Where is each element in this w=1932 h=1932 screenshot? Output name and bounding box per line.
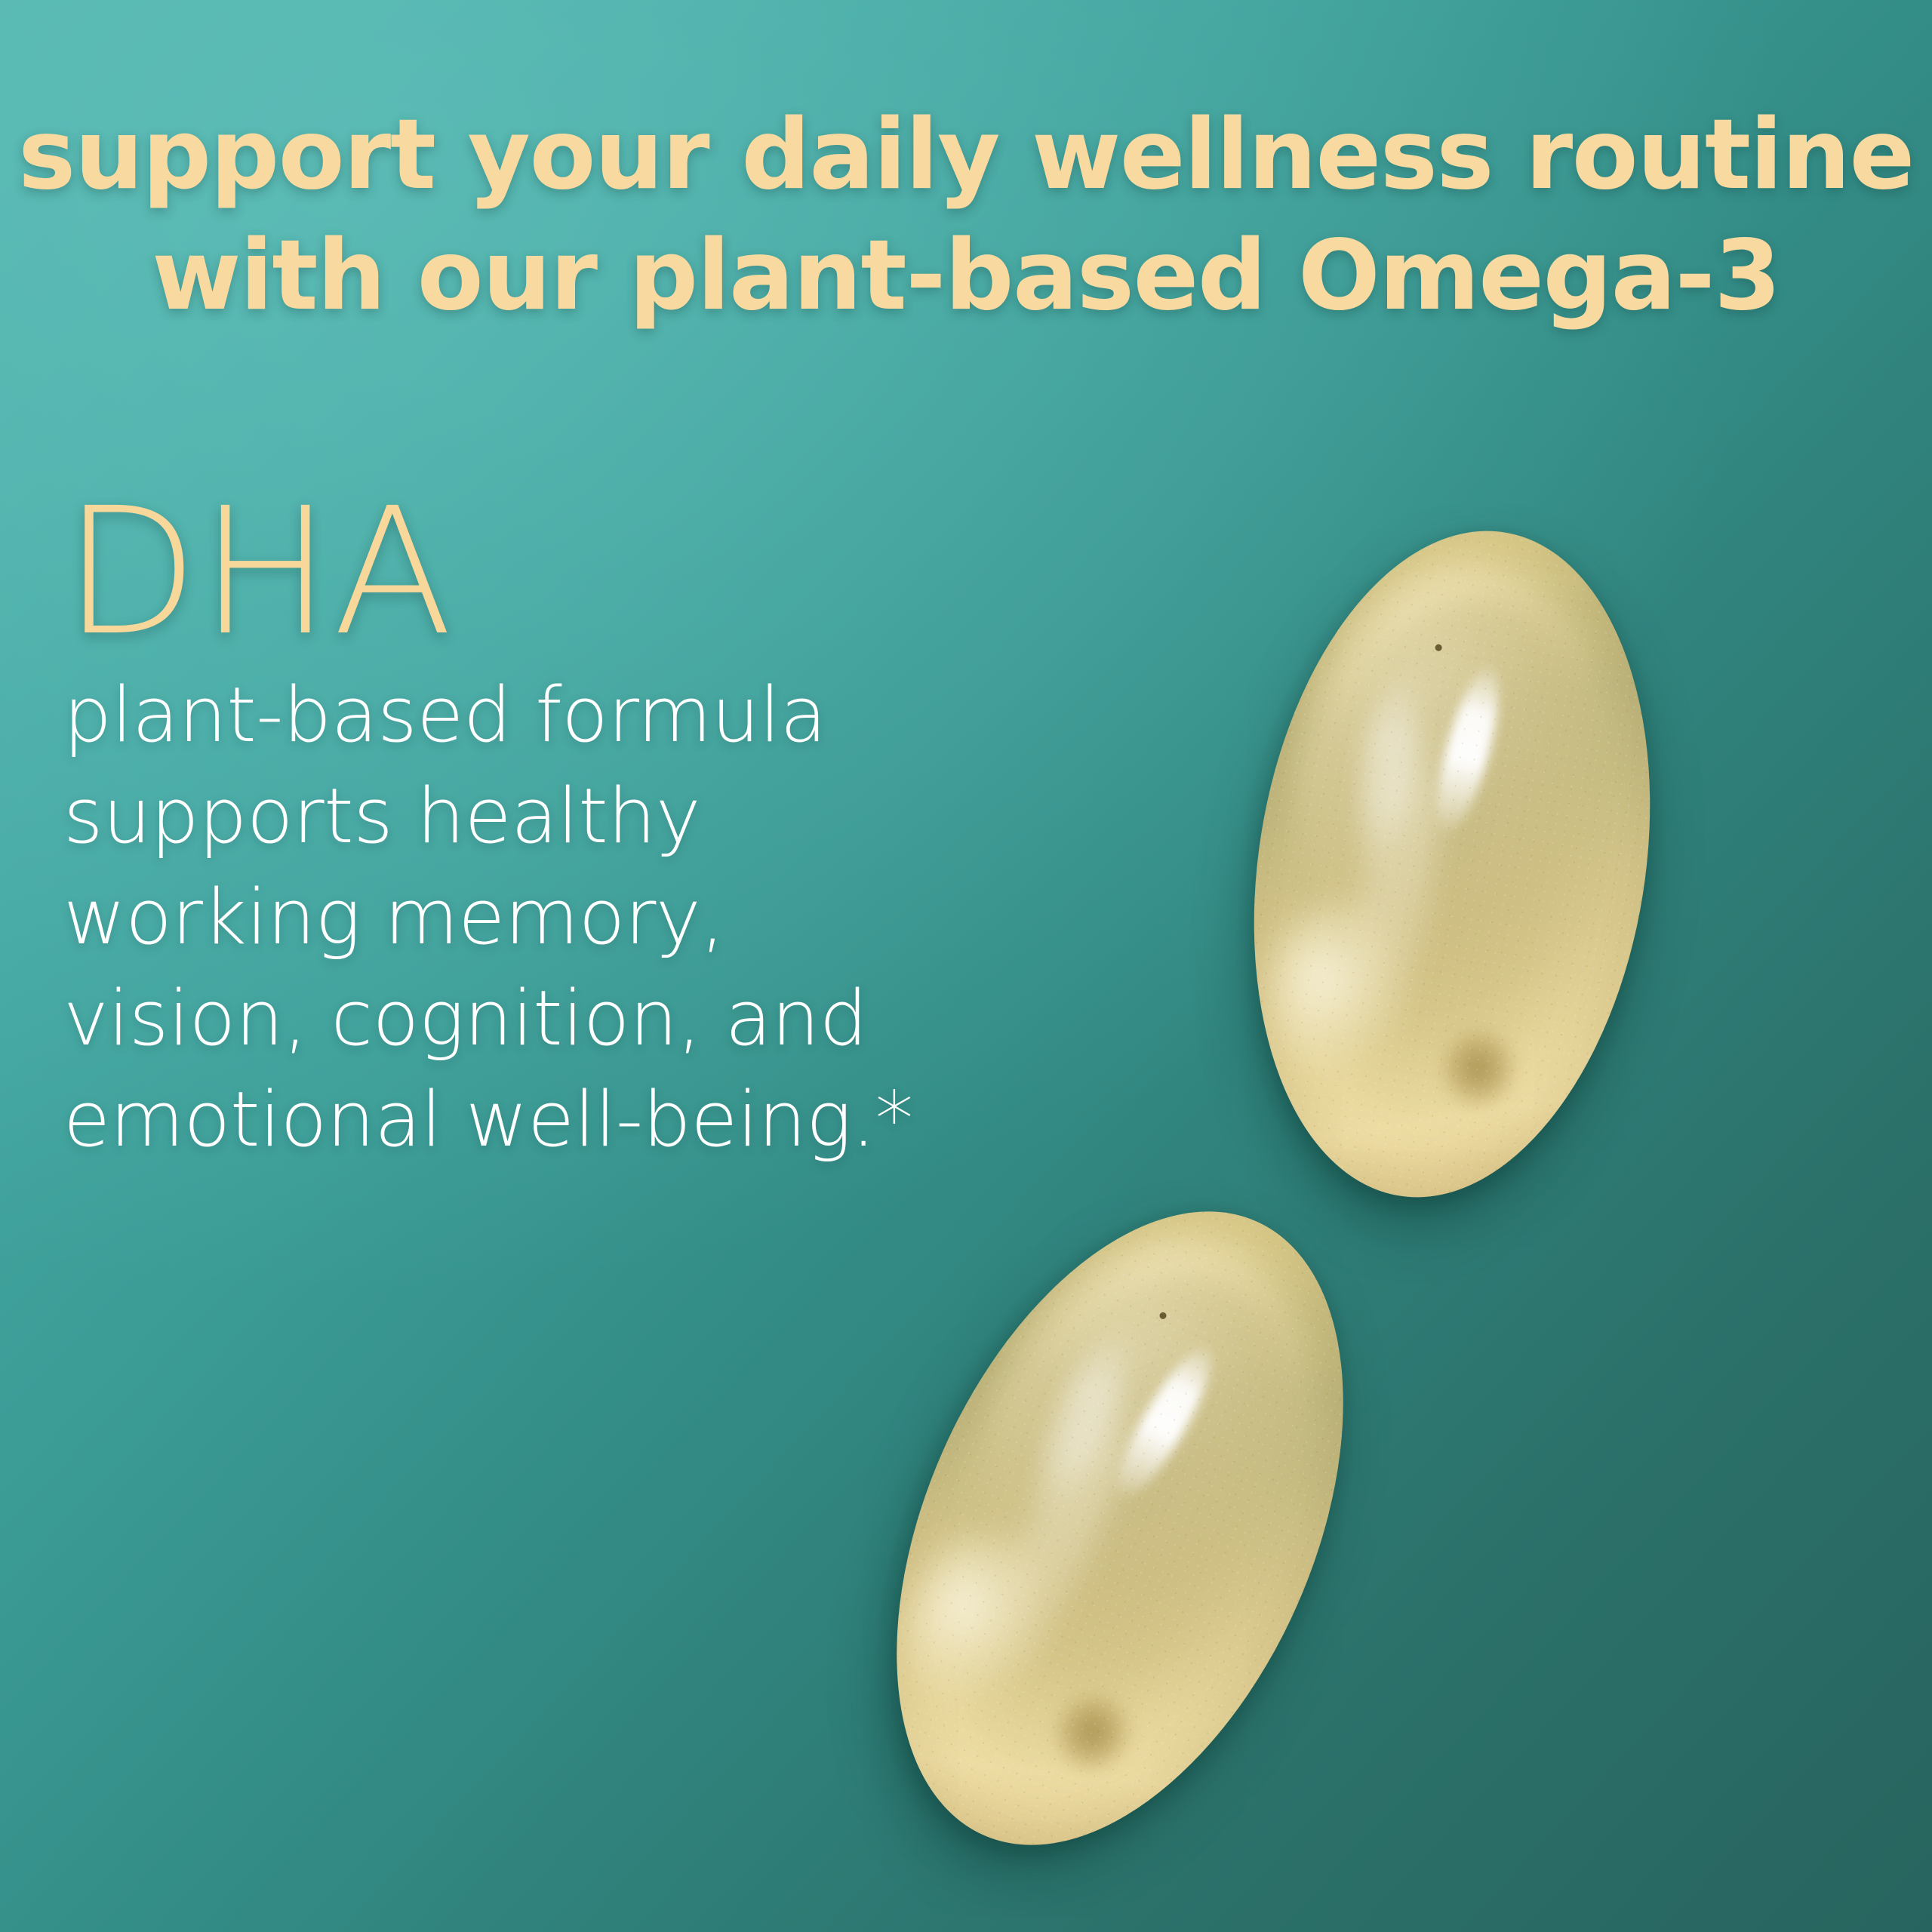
capsule-rim-light — [1216, 513, 1688, 1215]
benefit-line-3: working memory, — [63, 866, 954, 968]
product-banner: support your daily wellness routine with… — [0, 0, 1932, 1932]
headline: support your daily wellness routine with… — [0, 95, 1932, 337]
softgel-capsule-top — [1209, 502, 1696, 1226]
ingredient-copy-block: DHA plant-based formula supports healthy… — [63, 483, 954, 1170]
capsule-body — [1209, 502, 1696, 1226]
benefit-line-4: vision, cognition, and — [63, 968, 954, 1069]
benefit-line-1: plant-based formula — [63, 664, 954, 765]
benefit-line-5: emotional well-being.* — [63, 1069, 954, 1170]
headline-line-1: support your daily wellness routine — [0, 95, 1932, 216]
softgel-capsule-bottom — [807, 1143, 1433, 1913]
ingredient-title: DHA — [63, 483, 954, 661]
capsule-body — [807, 1143, 1433, 1913]
headline-line-2: with our plant-based Omega-3 — [0, 216, 1932, 337]
benefit-line-2: supports healthy — [63, 765, 954, 866]
capsule-rim-light — [817, 1155, 1424, 1903]
benefit-copy: plant-based formula supports healthy wor… — [63, 664, 954, 1170]
